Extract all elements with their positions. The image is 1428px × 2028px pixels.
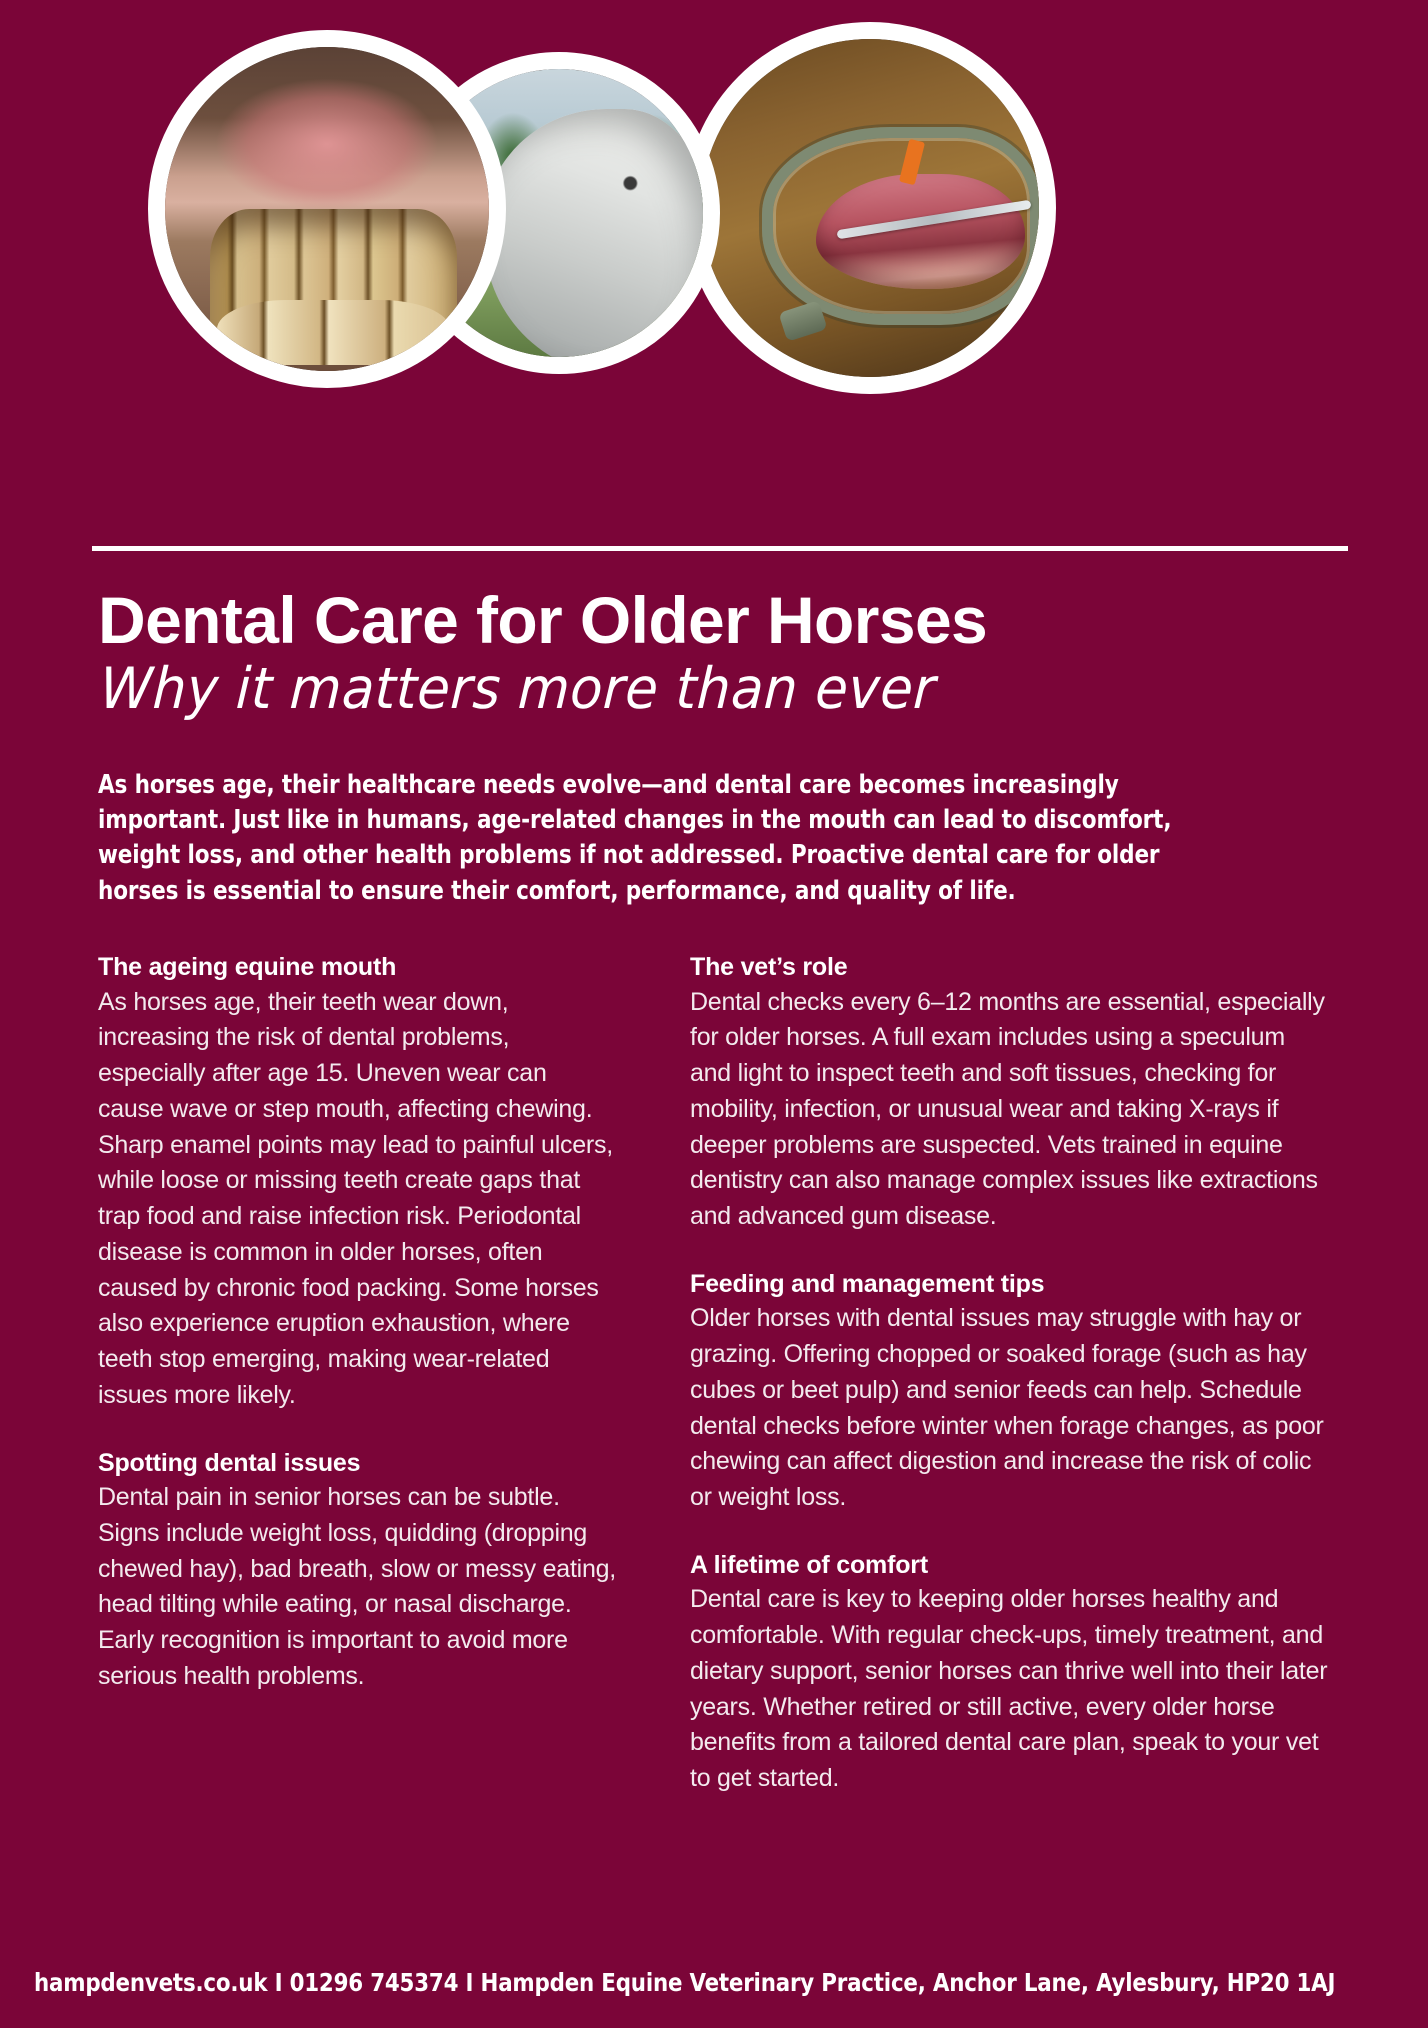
section-body: Older horses with dental issues may stru… — [690, 1301, 1330, 1516]
page-subtitle: Why it matters more than ever — [99, 660, 1264, 720]
section-body: Dental checks every 6–12 months are esse… — [690, 985, 1330, 1235]
footer-bar: hampdenvets.co.uk I 01296 745374 I Hampd… — [0, 1936, 1428, 2028]
intro-paragraph: As horses age, their healthcare needs ev… — [98, 768, 1209, 909]
section-body: Dental pain in senior horses can be subt… — [98, 1480, 618, 1695]
teeth-photo-art — [165, 47, 489, 371]
section-heading: Spotting dental issues — [98, 1448, 618, 1479]
section-body: Dental care is key to keeping older hors… — [690, 1582, 1330, 1797]
hero-image-band — [0, 0, 1428, 400]
section-ageing-equine-mouth: The ageing equine mouth As horses age, t… — [98, 952, 618, 1414]
section-heading: A lifetime of comfort — [690, 1550, 1330, 1581]
left-column: The ageing equine mouth As horses age, t… — [98, 952, 618, 1797]
section-spotting-dental-issues: Spotting dental issues Dental pain in se… — [98, 1448, 618, 1695]
section-heading: The vet’s role — [690, 952, 1330, 983]
horse-incisor-teeth-closeup-photo — [148, 30, 506, 388]
page-title: Dental Care for Older Horses — [98, 586, 1348, 655]
footer-contact-text: hampdenvets.co.uk I 01296 745374 I Hampd… — [34, 1968, 1335, 1997]
section-body: As horses age, their teeth wear down, in… — [98, 985, 618, 1414]
horse-dental-speculum-exam-photo — [684, 22, 1056, 394]
article-columns: The ageing equine mouth As horses age, t… — [98, 952, 1350, 1797]
poster: Dental Care for Older Horses Why it matt… — [0, 0, 1428, 2028]
section-feeding-and-management-tips: Feeding and management tips Older horses… — [690, 1269, 1330, 1516]
section-heading: The ageing equine mouth — [98, 952, 618, 983]
section-vets-role: The vet’s role Dental checks every 6–12 … — [690, 952, 1330, 1235]
header-divider-rule — [92, 546, 1348, 551]
section-heading: Feeding and management tips — [690, 1269, 1330, 1300]
section-a-lifetime-of-comfort: A lifetime of comfort Dental care is key… — [690, 1550, 1330, 1797]
right-column: The vet’s role Dental checks every 6–12 … — [690, 952, 1330, 1797]
